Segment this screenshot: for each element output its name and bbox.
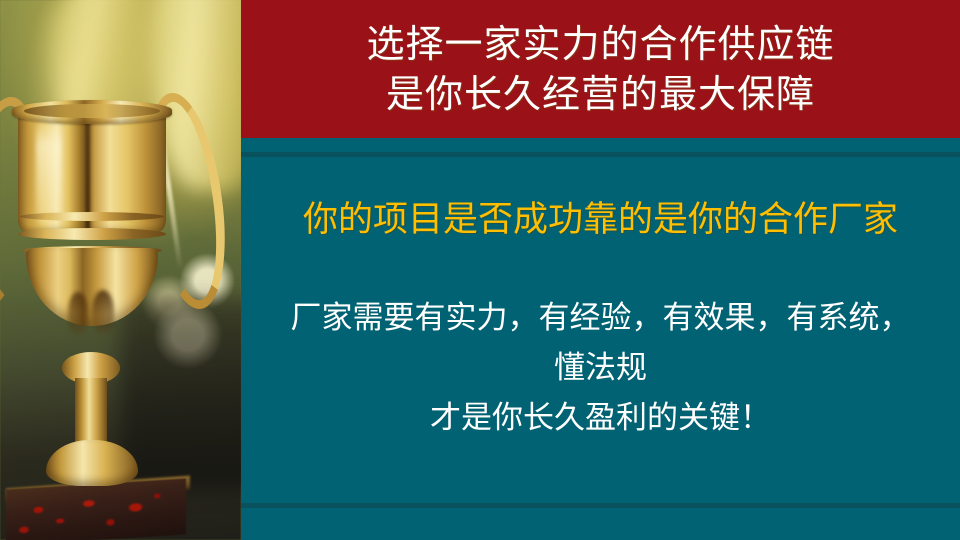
- content-area: 选择一家实力的合作供应链 是你长久经营的最大保障 你的项目是否成功靠的是你的合作…: [241, 0, 960, 540]
- trophy-ring-2: [18, 228, 166, 240]
- trophy-ring-1: [20, 212, 164, 221]
- body-line-3: 才是你长久盈利的关键！: [241, 393, 960, 443]
- lead-heading: 你的项目是否成功靠的是你的合作厂家: [241, 199, 960, 241]
- body-paragraph: 厂家需要有实力，有经验，有效果，有系统， 懂法规 才是你长久盈利的关键！: [241, 293, 960, 444]
- trophy-photo: [0, 0, 241, 540]
- trophy-cup-shadow-right: [92, 290, 114, 334]
- body-line-2: 懂法规: [241, 343, 960, 393]
- trophy-foot: [46, 440, 138, 486]
- trophy-cup-rim-inner: [24, 104, 160, 118]
- trophy-stem: [75, 378, 107, 448]
- divider-bottom: [241, 503, 960, 508]
- slide-root: 选择一家实力的合作供应链 是你长久经营的最大保障 你的项目是否成功靠的是你的合作…: [0, 0, 960, 540]
- title-banner: 选择一家实力的合作供应链 是你长久经营的最大保障: [241, 0, 960, 138]
- title-line-1: 选择一家实力的合作供应链: [366, 19, 834, 69]
- trophy-graphic: [0, 0, 241, 540]
- title-line-2: 是你长久经营的最大保障: [386, 69, 815, 119]
- body-line-1: 厂家需要有实力，有经验，有效果，有系统，: [241, 293, 960, 343]
- trophy-cup-shadow-left: [68, 292, 88, 334]
- trophy-cup-highlight: [36, 118, 62, 226]
- body-panel: 你的项目是否成功靠的是你的合作厂家 厂家需要有实力，有经验，有效果，有系统， 懂…: [241, 157, 960, 503]
